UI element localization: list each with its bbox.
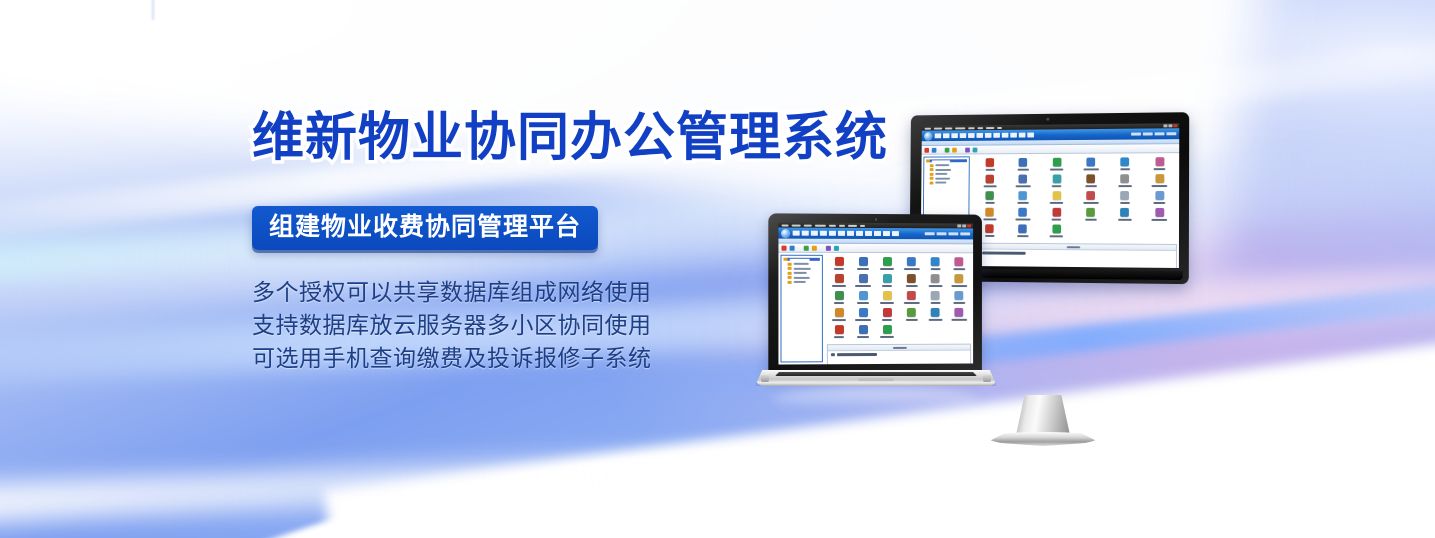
module-icon-cell[interactable] (1108, 174, 1142, 187)
module-icon-cell[interactable] (1006, 191, 1040, 204)
module-icon-cell[interactable] (851, 257, 875, 270)
window-menu-item[interactable] (848, 224, 857, 226)
module-icon (859, 274, 868, 283)
tagline-badge-label: 组建物业收费协同管理平台 (269, 215, 581, 240)
module-icon-cell[interactable] (1040, 174, 1074, 187)
tree-node[interactable] (784, 262, 820, 265)
module-icon (931, 257, 940, 266)
module-icon (1019, 175, 1028, 184)
module-icon-cell[interactable] (851, 291, 875, 304)
module-icon-cell[interactable] (1142, 174, 1177, 187)
module-icon-cell[interactable] (899, 291, 923, 304)
laptop-keyboard[interactable] (775, 372, 977, 376)
module-icon-cell[interactable] (1006, 208, 1040, 221)
module-icon-cell[interactable] (1108, 208, 1143, 221)
toolbar-icon-1[interactable] (932, 147, 937, 152)
module-icon (859, 257, 868, 266)
module-icon (907, 274, 916, 283)
module-icon-cell[interactable] (1007, 158, 1041, 171)
module-icon (1053, 174, 1062, 183)
module-icon (1121, 157, 1130, 166)
window-menu-item[interactable] (839, 224, 845, 226)
module-icon-label (983, 185, 996, 187)
window-menu-item[interactable] (945, 127, 952, 129)
module-icon-label (928, 318, 942, 321)
module-icon-label (1085, 218, 1097, 221)
module-icon-label (1052, 185, 1062, 187)
module-icon (1086, 208, 1095, 217)
module-icon-cell[interactable] (1040, 191, 1074, 204)
module-icon-label (1083, 201, 1098, 203)
toolbar-icon-5[interactable] (834, 245, 839, 250)
tree-node[interactable] (926, 177, 967, 180)
module-icon-label (1120, 201, 1130, 203)
module-icon (1086, 191, 1095, 200)
tree-node-label (793, 272, 806, 274)
module-icon (835, 325, 844, 334)
navigation-tree[interactable] (780, 255, 822, 363)
promo-banner: 维新物业协同办公管理系统 组建物业收费协同管理平台 多个授权可以共享数据库组成网… (0, 0, 1435, 538)
folder-icon (788, 271, 792, 274)
laptop-trackpad[interactable] (858, 378, 894, 381)
laptop-lid (768, 213, 982, 374)
module-icon (883, 325, 892, 334)
module-icon-cell[interactable] (851, 325, 875, 338)
module-icon-cell[interactable] (947, 274, 971, 287)
module-icon-label (857, 302, 869, 305)
module-icon-label (1052, 218, 1062, 220)
module-icon-cell[interactable] (1142, 191, 1177, 204)
app-menu-item[interactable] (874, 231, 881, 236)
page-title: 维新物业协同办公管理系统 (252, 112, 892, 164)
tree-node-label (935, 182, 946, 184)
module-icon (986, 175, 995, 184)
app-menu-item[interactable] (976, 133, 983, 138)
module-icon (1121, 174, 1130, 183)
status-table-panel (827, 344, 971, 365)
module-icon-label (951, 318, 967, 321)
module-icon-label (903, 268, 919, 271)
app-menu-item[interactable] (1019, 133, 1026, 138)
module-icon-cell[interactable] (1006, 224, 1040, 237)
module-icon-cell[interactable] (1074, 158, 1108, 171)
module-icon (986, 158, 995, 167)
module-icon-label (903, 301, 919, 304)
module-icon-label (1152, 218, 1168, 221)
window-menu-item[interactable] (804, 224, 812, 226)
app-main-area (825, 253, 973, 364)
module-icon (1019, 191, 1028, 200)
module-icon-label (855, 319, 871, 322)
tree-node[interactable] (926, 164, 967, 167)
module-icon-label (951, 285, 967, 287)
module-icon-cell[interactable] (875, 257, 899, 270)
module-icon (931, 274, 940, 283)
module-icon-label (857, 336, 869, 339)
module-icon-label (953, 301, 965, 303)
module-icon-cell[interactable] (1108, 157, 1142, 170)
app-header-link[interactable] (937, 232, 947, 235)
module-icon-cell[interactable] (851, 274, 875, 287)
laptop-foot-left (761, 375, 769, 382)
close-icon[interactable] (967, 224, 971, 227)
toolbar-icon-5[interactable] (973, 147, 978, 152)
maximize-icon[interactable] (1168, 124, 1172, 127)
module-icon (859, 291, 868, 300)
module-icon-label (1017, 201, 1028, 203)
app-menu-bar[interactable] (793, 231, 899, 237)
module-icon (1155, 191, 1164, 200)
module-icon-label (985, 168, 994, 170)
module-icon-label (1083, 168, 1098, 171)
folder-icon (930, 164, 934, 167)
app-logo-icon (781, 229, 789, 237)
module-icon-label (905, 318, 917, 321)
laptop-screen (778, 222, 973, 364)
tree-node-label (793, 276, 809, 278)
minimize-icon[interactable] (1164, 124, 1168, 127)
module-icon (1155, 157, 1164, 166)
laptop-computer (755, 214, 997, 394)
tree-node[interactable] (926, 172, 967, 175)
module-icon-label (1018, 168, 1029, 170)
module-icon-label (1118, 218, 1132, 221)
module-icon-cell[interactable] (973, 191, 1006, 204)
module-icon-label (930, 268, 940, 271)
folder-icon (930, 168, 934, 171)
module-icon-cell[interactable] (923, 274, 947, 287)
window-menu[interactable] (925, 127, 1002, 130)
module-icon (859, 308, 868, 317)
folder-icon (784, 258, 788, 261)
module-icon (883, 308, 892, 317)
module-icon (1086, 174, 1095, 183)
module-icon-label (953, 268, 965, 271)
module-icon-cell[interactable] (1142, 157, 1177, 170)
module-icon-label (1015, 218, 1030, 220)
tree-node-label (793, 267, 810, 269)
module-icon-label (1154, 168, 1166, 171)
module-icon-cell[interactable] (1040, 208, 1074, 221)
module-icon-cell[interactable] (923, 257, 947, 270)
module-icon-label (930, 301, 940, 303)
tree-node-label (931, 160, 950, 162)
window-menu-item[interactable] (815, 224, 826, 226)
module-icon-cell[interactable] (947, 308, 971, 321)
tree-node-label (935, 169, 951, 171)
app-menu-item[interactable] (838, 231, 845, 236)
module-icon (931, 291, 940, 300)
toolbar-icon-2[interactable] (945, 147, 950, 152)
tree-node[interactable] (926, 168, 967, 171)
window-controls[interactable] (957, 224, 971, 227)
app-menu-item[interactable] (1002, 133, 1009, 138)
app-header-link[interactable] (1131, 133, 1141, 136)
toolbar-icon-3[interactable] (812, 245, 817, 250)
module-icon-cell[interactable] (923, 291, 947, 304)
table-row[interactable] (828, 351, 970, 358)
module-icon-label (832, 284, 846, 287)
module-icon (1155, 174, 1164, 183)
module-icon (931, 308, 940, 317)
module-icon-label (880, 268, 894, 271)
tree-node-label (935, 173, 947, 175)
folder-icon (930, 172, 934, 175)
module-icon-cell[interactable] (923, 308, 947, 321)
module-icon-cell[interactable] (827, 291, 851, 304)
toolbar-icon-2[interactable] (804, 245, 809, 250)
app-menu-item[interactable] (935, 133, 942, 138)
module-icon-cell[interactable] (1040, 224, 1074, 237)
module-icon-cell[interactable] (827, 325, 851, 338)
module-icon (955, 257, 964, 266)
window-menu-item[interactable] (977, 127, 983, 129)
module-icon-label (834, 336, 844, 339)
app-menu-item[interactable] (1010, 133, 1017, 138)
module-icon-label (1085, 185, 1097, 187)
app-menu-item[interactable] (951, 133, 958, 138)
webcam-icon (875, 218, 877, 221)
module-icon-cell[interactable] (899, 308, 923, 321)
app-window-laptop (778, 222, 973, 364)
app-header-link[interactable] (1166, 132, 1176, 135)
tree-node[interactable] (784, 267, 820, 270)
toolbar-icon-4[interactable] (826, 245, 831, 250)
module-icon (1019, 224, 1028, 233)
module-icon (883, 291, 892, 300)
tree-node[interactable] (784, 280, 820, 283)
folder-icon (788, 280, 792, 283)
toolbar-icon-0[interactable] (924, 147, 929, 152)
app-menu-item[interactable] (892, 231, 899, 236)
module-icon (907, 291, 916, 300)
module-icon-label (882, 318, 892, 321)
app-header-links[interactable] (925, 232, 970, 235)
module-icon-label (1154, 201, 1166, 203)
tree-node[interactable] (784, 276, 820, 279)
module-icon-label (928, 285, 942, 287)
module-icon-label (882, 285, 892, 288)
app-menu-item[interactable] (993, 133, 1000, 138)
module-icon-cell[interactable] (875, 308, 899, 321)
laptop-foot-right (983, 375, 991, 382)
module-icon (1053, 158, 1062, 167)
window-menu-item[interactable] (792, 224, 801, 226)
app-menu-bar[interactable] (935, 133, 1034, 139)
tree-node[interactable] (926, 181, 967, 184)
window-menu[interactable] (781, 224, 865, 226)
module-icon-cell[interactable] (1074, 191, 1108, 204)
module-icon-label (880, 301, 894, 304)
module-icon-label (1120, 168, 1130, 171)
module-icon (1052, 191, 1061, 200)
app-menu-item[interactable] (960, 133, 967, 138)
module-icon-cell[interactable] (1040, 158, 1074, 171)
module-icon-label (905, 285, 917, 288)
minimize-icon[interactable] (957, 224, 961, 227)
module-icon (1019, 158, 1028, 167)
window-menu-item[interactable] (986, 127, 994, 129)
app-menu-item[interactable] (793, 231, 800, 236)
folder-icon (930, 181, 934, 184)
tagline-badge: 组建物业收费协同管理平台 (252, 206, 598, 250)
module-icon-cell[interactable] (875, 274, 899, 287)
window-controls[interactable] (1164, 124, 1178, 127)
app-logo-icon (925, 132, 932, 140)
module-icon-cell[interactable] (1006, 175, 1040, 188)
module-icon (1121, 191, 1130, 200)
tree-node-label (935, 177, 950, 179)
module-icon-cell[interactable] (851, 308, 875, 321)
tree-node-label (789, 258, 809, 260)
module-icon-cell[interactable] (899, 274, 923, 287)
toolbar-icon-0[interactable] (781, 245, 786, 250)
window-menu-item[interactable] (934, 127, 942, 129)
module-icon (1121, 208, 1130, 217)
webcam-icon (1046, 118, 1049, 121)
app-header-link[interactable] (960, 232, 970, 235)
app-menu-item[interactable] (802, 231, 809, 236)
module-icon-label (985, 201, 994, 203)
module-icon-label (855, 284, 871, 287)
app-header-link[interactable] (948, 232, 958, 235)
app-header-link[interactable] (1155, 132, 1165, 135)
module-icon (955, 308, 964, 317)
app-menu-item[interactable] (985, 133, 992, 138)
module-icon-cell[interactable] (1108, 191, 1143, 204)
app-menu-item[interactable] (968, 133, 975, 138)
folder-icon (930, 177, 934, 180)
module-icon (835, 257, 844, 266)
app-header-link[interactable] (925, 232, 935, 235)
app-title-bar (778, 228, 973, 240)
module-icon (955, 291, 964, 300)
module-icon (1019, 208, 1028, 217)
tree-node-label (935, 164, 949, 166)
monitor-stand-neck (1016, 395, 1070, 435)
app-menu-item[interactable] (883, 231, 890, 236)
app-menu-item[interactable] (856, 231, 863, 236)
module-icon (1052, 225, 1061, 234)
app-menu-item[interactable] (943, 133, 950, 138)
maximize-icon[interactable] (962, 224, 966, 227)
module-icon-cell[interactable] (899, 257, 923, 270)
module-icon-cell[interactable] (827, 274, 851, 287)
module-icon-cell[interactable] (973, 175, 1006, 188)
module-icon-label (880, 335, 894, 338)
app-menu-item[interactable] (820, 231, 827, 236)
app-header-link[interactable] (1143, 132, 1153, 135)
monitor-reflection (993, 446, 1093, 478)
folder-icon (926, 159, 930, 162)
toolbar-icon-1[interactable] (790, 245, 795, 250)
app-body (778, 253, 973, 365)
laptop-reflection (773, 388, 979, 410)
module-icon-cell[interactable] (875, 325, 899, 338)
table-row[interactable] (974, 249, 1176, 257)
tree-node-label (793, 263, 808, 265)
module-icon-label (1050, 235, 1063, 238)
status-table-panel (973, 243, 1177, 268)
module-icon-cell[interactable] (1142, 208, 1177, 221)
app-main-area (971, 153, 1179, 268)
module-icon-label (1050, 168, 1063, 171)
module-icon-label (857, 267, 869, 270)
module-icon-cell[interactable] (827, 308, 851, 321)
app-menu-item[interactable] (1027, 133, 1034, 138)
app-header-links[interactable] (1131, 132, 1176, 135)
module-icon-cell[interactable] (827, 257, 851, 270)
module-icon (907, 257, 916, 266)
module-icon-label (1050, 201, 1063, 203)
module-icon (1087, 158, 1096, 167)
module-icon-cell[interactable] (947, 291, 971, 304)
folder-icon (788, 262, 792, 265)
module-icon (1052, 208, 1061, 217)
module-icon (883, 257, 892, 266)
tree-node-label (793, 281, 805, 283)
app-menu-item[interactable] (865, 231, 872, 236)
window-menu-item[interactable] (968, 127, 975, 129)
tree-node[interactable] (784, 258, 820, 261)
module-icon (883, 274, 892, 283)
folder-icon (788, 267, 792, 270)
module-icon (835, 274, 844, 283)
window-menu-item[interactable] (829, 224, 836, 226)
module-icon (907, 308, 916, 317)
tree-node[interactable] (926, 159, 967, 162)
module-icon (955, 274, 964, 283)
module-icon-cell[interactable] (947, 257, 971, 270)
module-icon (859, 325, 868, 334)
module-icon-cell[interactable] (1074, 174, 1108, 187)
close-icon[interactable] (1173, 124, 1177, 127)
module-icon-label (1017, 235, 1028, 238)
toolbar-icon-4[interactable] (965, 147, 970, 152)
module-icon-grid[interactable] (825, 253, 973, 342)
module-icon-cell[interactable] (973, 158, 1006, 171)
folder-icon (788, 276, 792, 279)
window-menu-item[interactable] (997, 127, 1002, 129)
app-menu-item[interactable] (811, 231, 818, 236)
window-menu-item[interactable] (781, 224, 788, 226)
module-icon (835, 308, 844, 317)
app-menu-item[interactable] (829, 231, 836, 236)
module-icon-label (1152, 185, 1168, 188)
module-icon (1155, 208, 1164, 217)
tree-node[interactable] (784, 271, 820, 274)
app-title-bar (922, 128, 1180, 141)
module-icon-grid[interactable] (971, 153, 1179, 242)
module-icon (835, 291, 844, 300)
app-menu-item[interactable] (847, 231, 854, 236)
module-icon-label (1016, 185, 1031, 187)
module-icon (986, 191, 995, 200)
toolbar-icon-3[interactable] (952, 147, 957, 152)
module-icon-label (832, 319, 846, 322)
window-menu-item[interactable] (925, 127, 931, 129)
module-icon-label (1118, 185, 1132, 187)
module-icon-label (834, 302, 844, 305)
module-icon-cell[interactable] (875, 291, 899, 304)
window-menu-item[interactable] (860, 224, 865, 226)
window-menu-item[interactable] (955, 127, 965, 129)
module-icon-cell[interactable] (1074, 208, 1108, 221)
module-icon-label (834, 267, 844, 270)
